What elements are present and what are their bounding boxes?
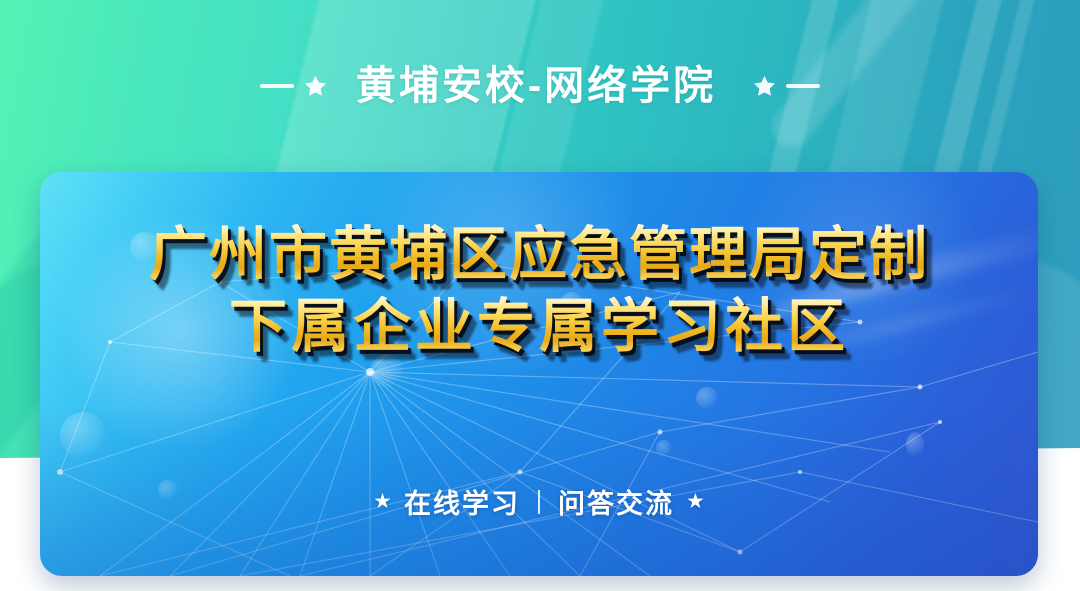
page-title: 黄埔安校-网络学院: [356, 66, 716, 106]
header-left-decoration: [260, 74, 328, 99]
hero-title-line-1: 广州市黄埔区应急管理局定制: [40, 224, 1038, 284]
star-icon: ★: [686, 491, 705, 512]
star-icon: [752, 74, 777, 99]
promo-banner: 黄埔安校-网络学院: [0, 0, 1080, 591]
hero-tagline: ★ 在线学习 问答交流 ★: [40, 482, 1038, 521]
hero-card: 广州市黄埔区应急管理局定制 下属企业专属学习社区 ★ 在线学习 问答交流 ★: [40, 172, 1038, 576]
hero-title-block: 广州市黄埔区应急管理局定制 下属企业专属学习社区: [40, 224, 1038, 357]
tagline-separator: [538, 490, 540, 514]
hero-title-line-2: 下属企业专属学习社区: [40, 296, 1038, 356]
dash-icon: [786, 84, 820, 88]
star-icon: [303, 74, 328, 99]
star-icon: ★: [373, 491, 392, 512]
dash-icon: [260, 84, 294, 88]
header-title-row: 黄埔安校-网络学院: [0, 55, 1080, 117]
tagline-text-online-learning: 在线学习: [404, 482, 520, 521]
tagline-text-qa-exchange: 问答交流: [558, 482, 674, 521]
header-right-decoration: [752, 74, 820, 99]
